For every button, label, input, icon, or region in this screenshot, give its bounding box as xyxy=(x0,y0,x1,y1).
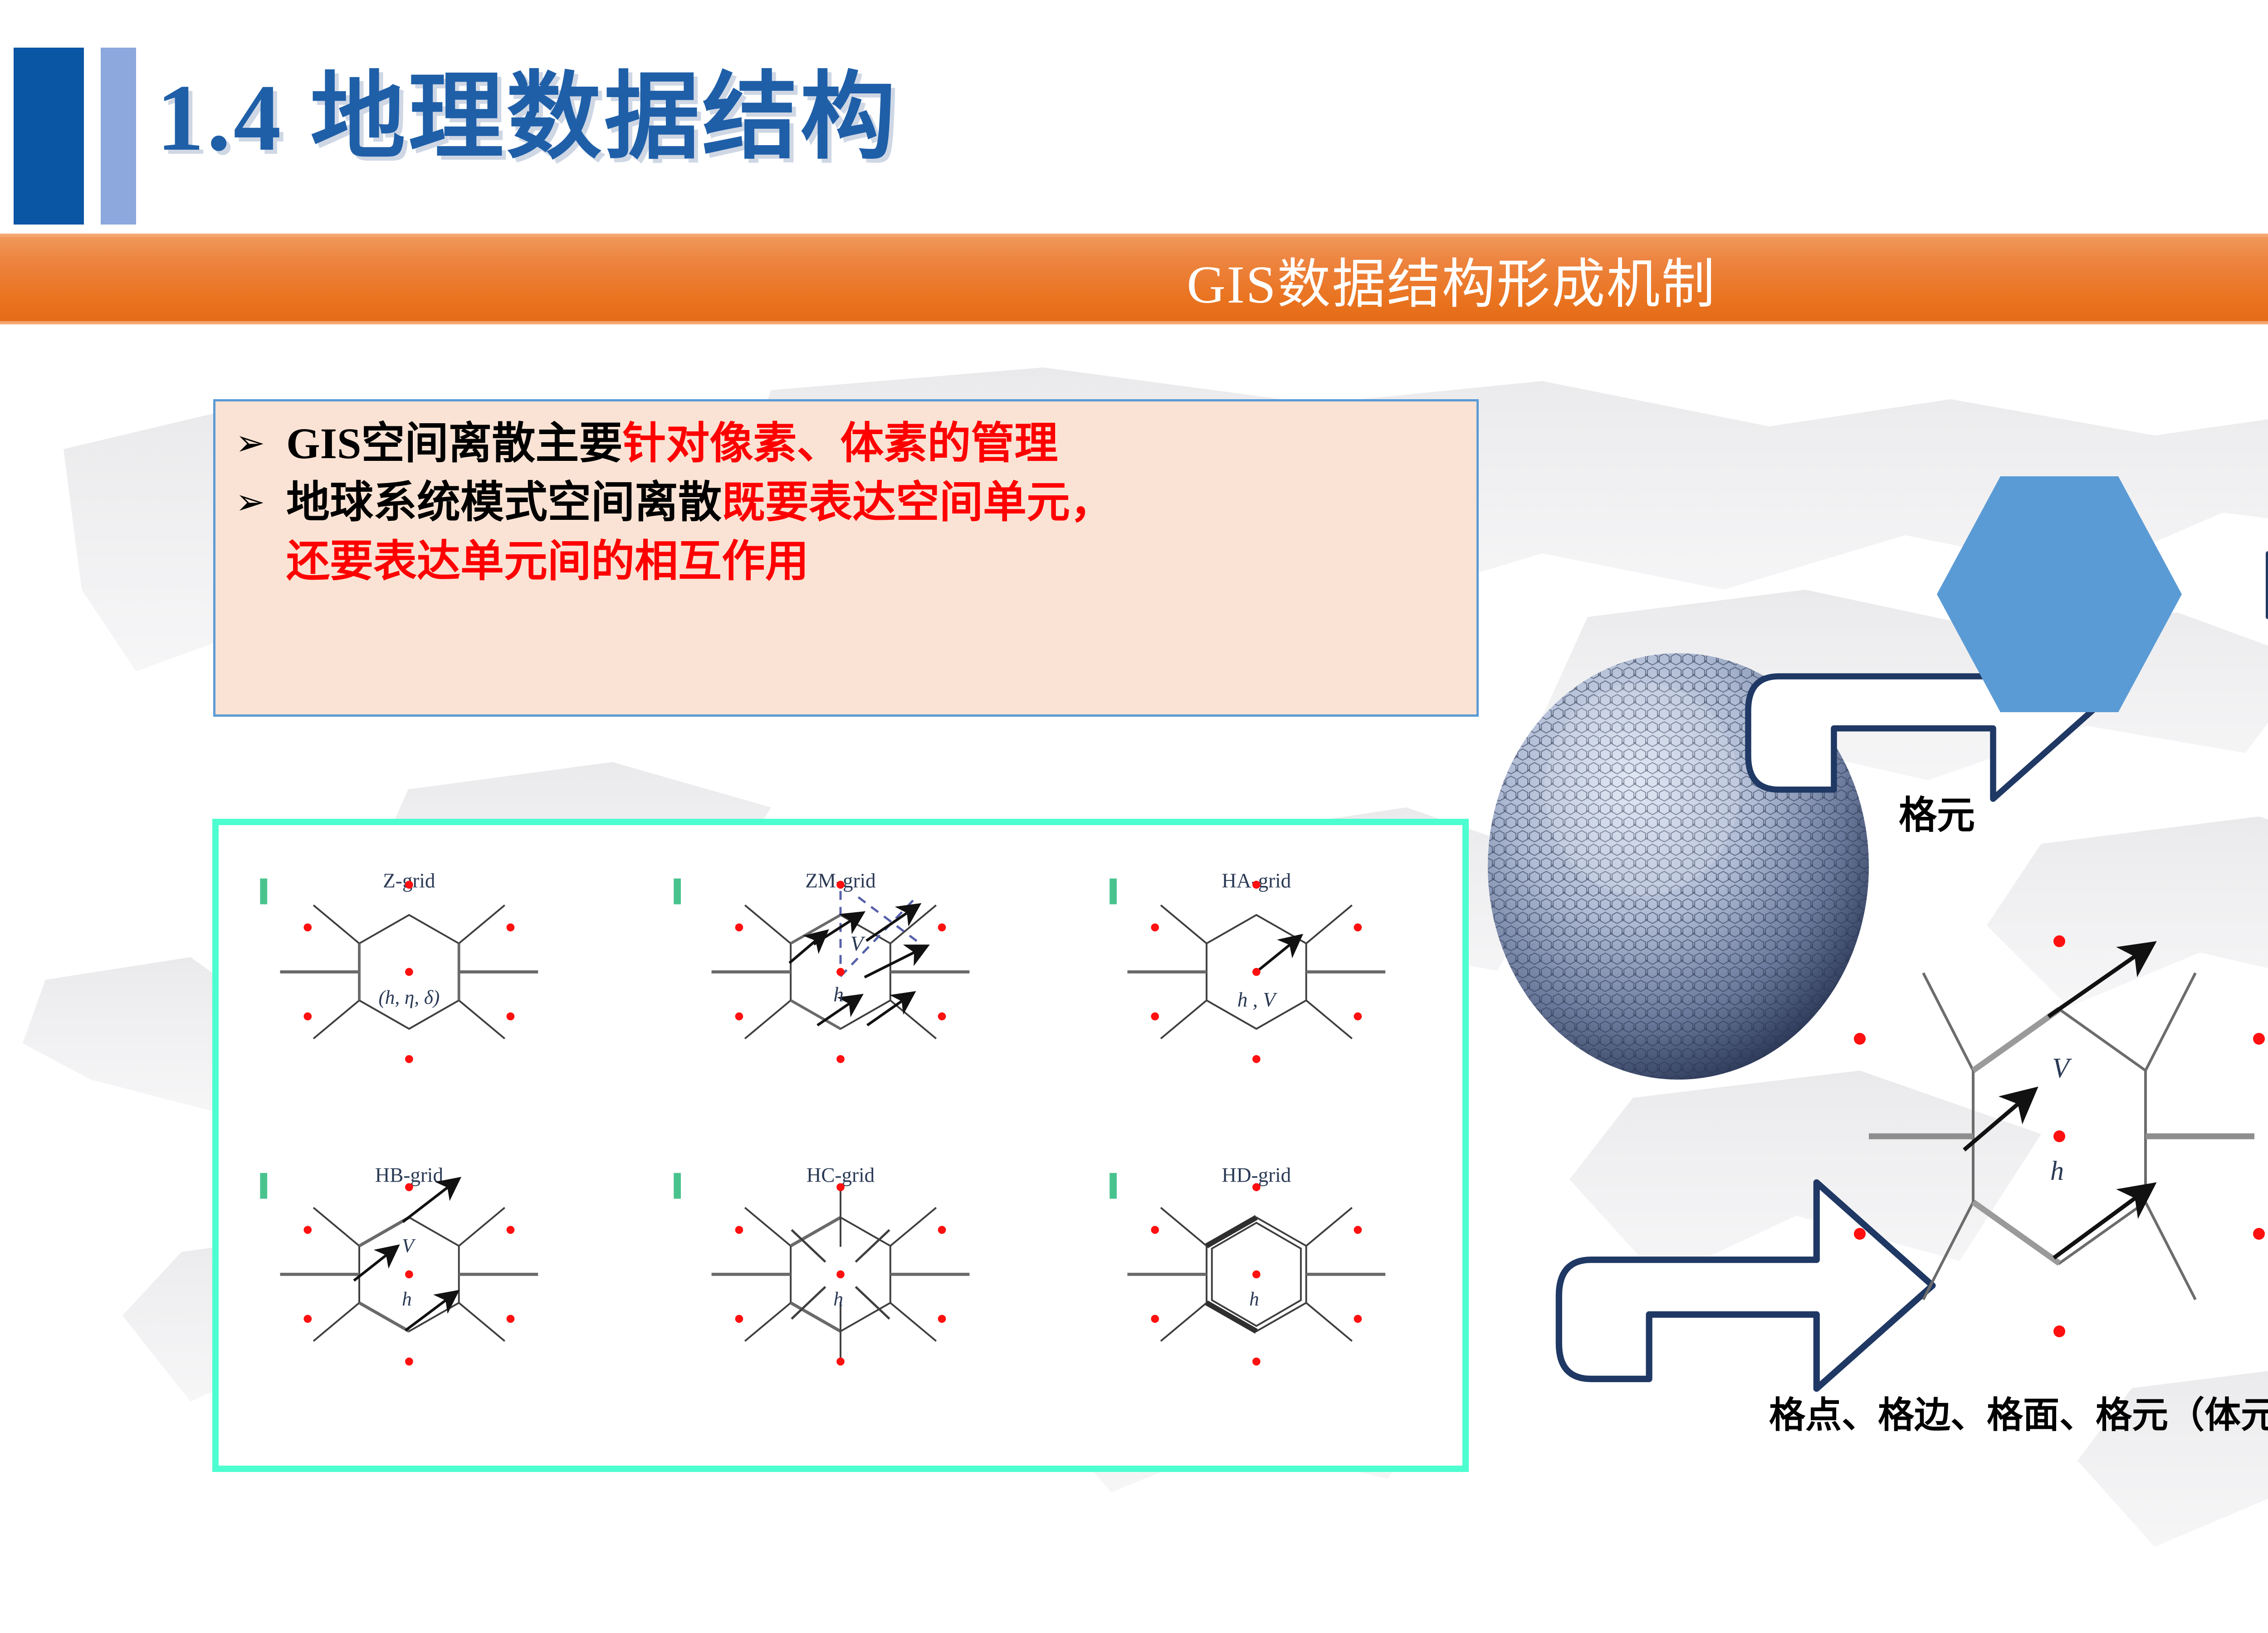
title-accent-bar-light xyxy=(101,48,136,225)
svg-text:h: h xyxy=(1249,1289,1259,1310)
svg-text:h: h xyxy=(833,983,844,1006)
svg-text:h: h xyxy=(2050,1156,2064,1186)
bullet-text: GIS空间离散主要针对像素、体素的管理 xyxy=(286,419,1058,469)
bullet-item: ➢ GIS空间离散主要针对像素、体素的管理 xyxy=(235,419,1457,469)
grid-cell-ha: HA-grid h , V xyxy=(1110,869,1385,1063)
bullet-text-black: 地球系统模式空间离散 xyxy=(286,478,722,527)
svg-text:(h, η, δ): (h, η, δ) xyxy=(378,987,440,1008)
grid-cell-hc: HC-grid h xyxy=(674,1164,969,1365)
bullet-text-black: GIS空间离散主要 xyxy=(286,419,622,468)
callout-box: ➢ GIS空间离散主要针对像素、体素的管理 ➢ 地球系统模式空间离散既要表达空间… xyxy=(213,399,1479,717)
label-grid-elements: 格点、格边、格面、格元（体元） xyxy=(1642,1386,2268,1438)
svg-text:V: V xyxy=(402,1235,416,1257)
grid-cell-z: Z-grid (h, η, δ) xyxy=(260,869,538,1063)
svg-text:HB-grid: HB-grid xyxy=(375,1164,443,1186)
flow-diagram-area: V h 格元 空间数据表达 格点、格边、格面、格元（体元） 地球系统模式计算 xyxy=(1470,327,2268,1633)
svg-text:h: h xyxy=(402,1289,412,1310)
grid-cell-hd: HD-grid h xyxy=(1110,1164,1385,1365)
slide-title-bar: 1.4 地理数据结构 xyxy=(0,0,2268,227)
bent-arrow-down xyxy=(1559,1183,1933,1389)
title-accent-bar-dark xyxy=(14,48,84,225)
bullet-text-red: 既要表达空间单元， xyxy=(722,478,1114,527)
bullet-continuation-text: 还要表达单元间的相互作用 xyxy=(235,537,1457,587)
bullet-text: 地球系统模式空间离散既要表达空间单元， xyxy=(286,478,1114,528)
svg-text:h: h xyxy=(833,1289,843,1310)
page-title: 1.4 地理数据结构 xyxy=(156,50,898,186)
svg-text:HD-grid: HD-grid xyxy=(1222,1164,1291,1186)
banner-title: GIS数据结构形成机制 xyxy=(1187,240,1716,318)
grid-cell-zm: ZM-grid xyxy=(674,869,969,1063)
bullet-text-red: 针对像素、体素的管理 xyxy=(622,419,1058,468)
section-banner: GIS数据结构形成机制 xyxy=(0,234,2268,324)
bullet-arrow-icon: ➢ xyxy=(235,419,286,468)
svg-text:h , V: h , V xyxy=(1237,988,1277,1011)
svg-text:V: V xyxy=(2052,1053,2072,1084)
grid-cell-hb: HB-grid V h xyxy=(260,1164,538,1365)
svg-text:HC-grid: HC-grid xyxy=(807,1164,875,1186)
bullet-item: ➢ 地球系统模式空间离散既要表达空间单元， xyxy=(235,478,1457,528)
grid-types-figure-panel: Z-grid (h, η, δ) ZM-grid xyxy=(212,819,1469,1472)
label-hexagon-cell: 格元 xyxy=(1819,785,2055,840)
bullet-arrow-icon: ➢ xyxy=(235,478,286,527)
